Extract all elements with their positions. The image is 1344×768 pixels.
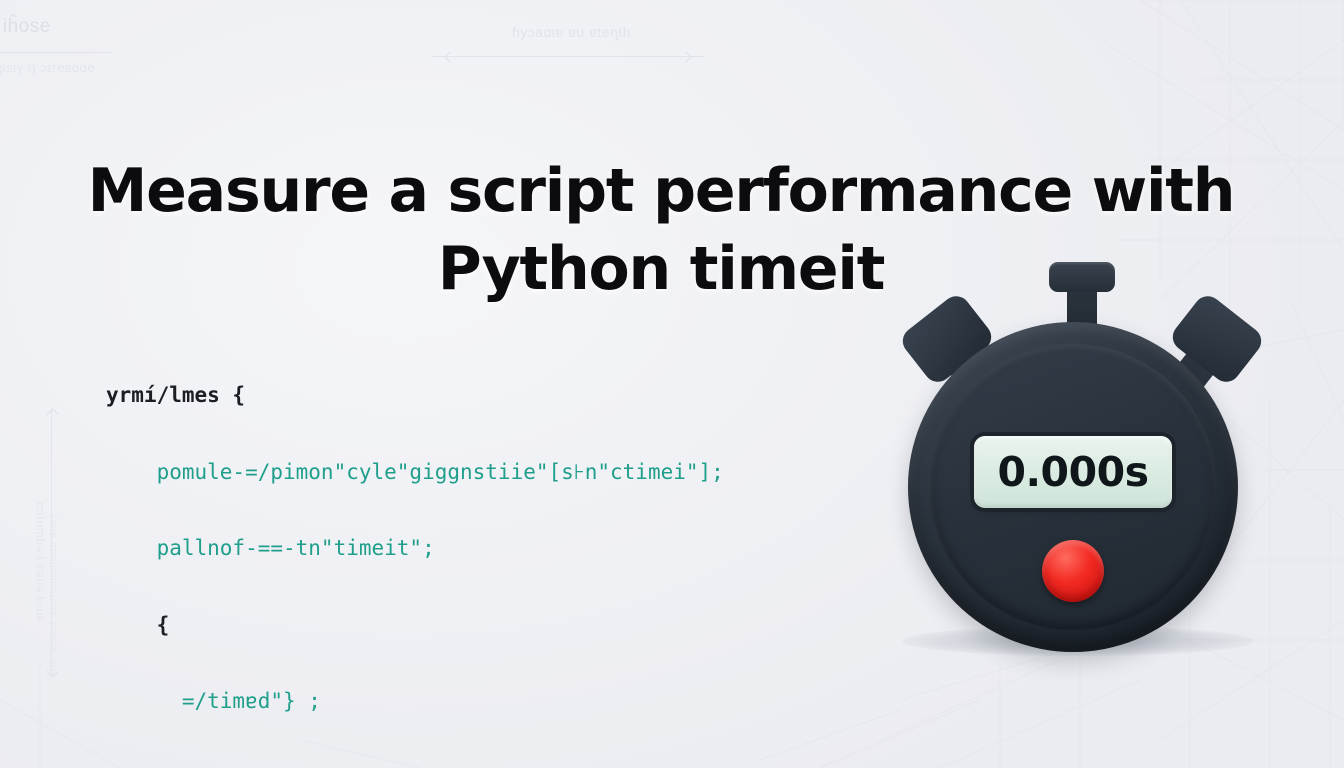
watermark-top-center: ɦyɔaɑɩɐ ɐu ɐteɳth <box>512 24 631 40</box>
code-line: yrmí/lmes { <box>106 383 724 409</box>
watermark-top-left-1: n iĥose <box>0 16 51 38</box>
stopwatch-body-outer: 0.000s <box>908 322 1238 652</box>
watermark-left-vertical-2: ɘnn ɿnɘɯɑ ɘɘɔɿɯɯɘnɘɑɔ ɘnɘɿ <box>47 491 59 701</box>
code-line: pallnof-==-tn"timeit"; <box>106 536 724 562</box>
stopwatch-display-value: 0.000s <box>997 448 1148 496</box>
code-line: { <box>106 613 724 639</box>
poster-canvas: n iĥose ɯʂsɩy ɩɿ ɔɪresɑɑe ɦyɔaɑɩɐ ɐu ɐte… <box>0 0 1344 768</box>
watermark-left-vertical-1: ɘnoɿ ɘnɘɔ ɿ ɘqɯoɿuɔ <box>32 457 46 667</box>
code-line: pomule-=/pimon"cyle"giggnstiie"[s⊦n"ctim… <box>106 460 724 486</box>
stopwatch-lcd-display: 0.000s <box>974 436 1172 508</box>
start-stop-button[interactable] <box>1042 540 1104 602</box>
page-title-line-1: Measure a script performance with <box>76 152 1246 230</box>
watermark-center-rule <box>432 56 704 57</box>
watermark-top-left-rule <box>0 52 112 53</box>
code-block: yrmí/lmes { pomule-=/pimon"cyle"giggnsti… <box>106 332 724 768</box>
stopwatch-body-inner: 0.000s <box>930 344 1216 630</box>
crown-cap-icon <box>1049 262 1115 292</box>
watermark-top-left-2: ɯʂsɩy ɩɿ ɔɪresɑɑe <box>0 60 95 75</box>
code-line: =/timɐd"} ; <box>106 689 724 715</box>
stopwatch-illustration: 0.000s <box>880 258 1284 662</box>
